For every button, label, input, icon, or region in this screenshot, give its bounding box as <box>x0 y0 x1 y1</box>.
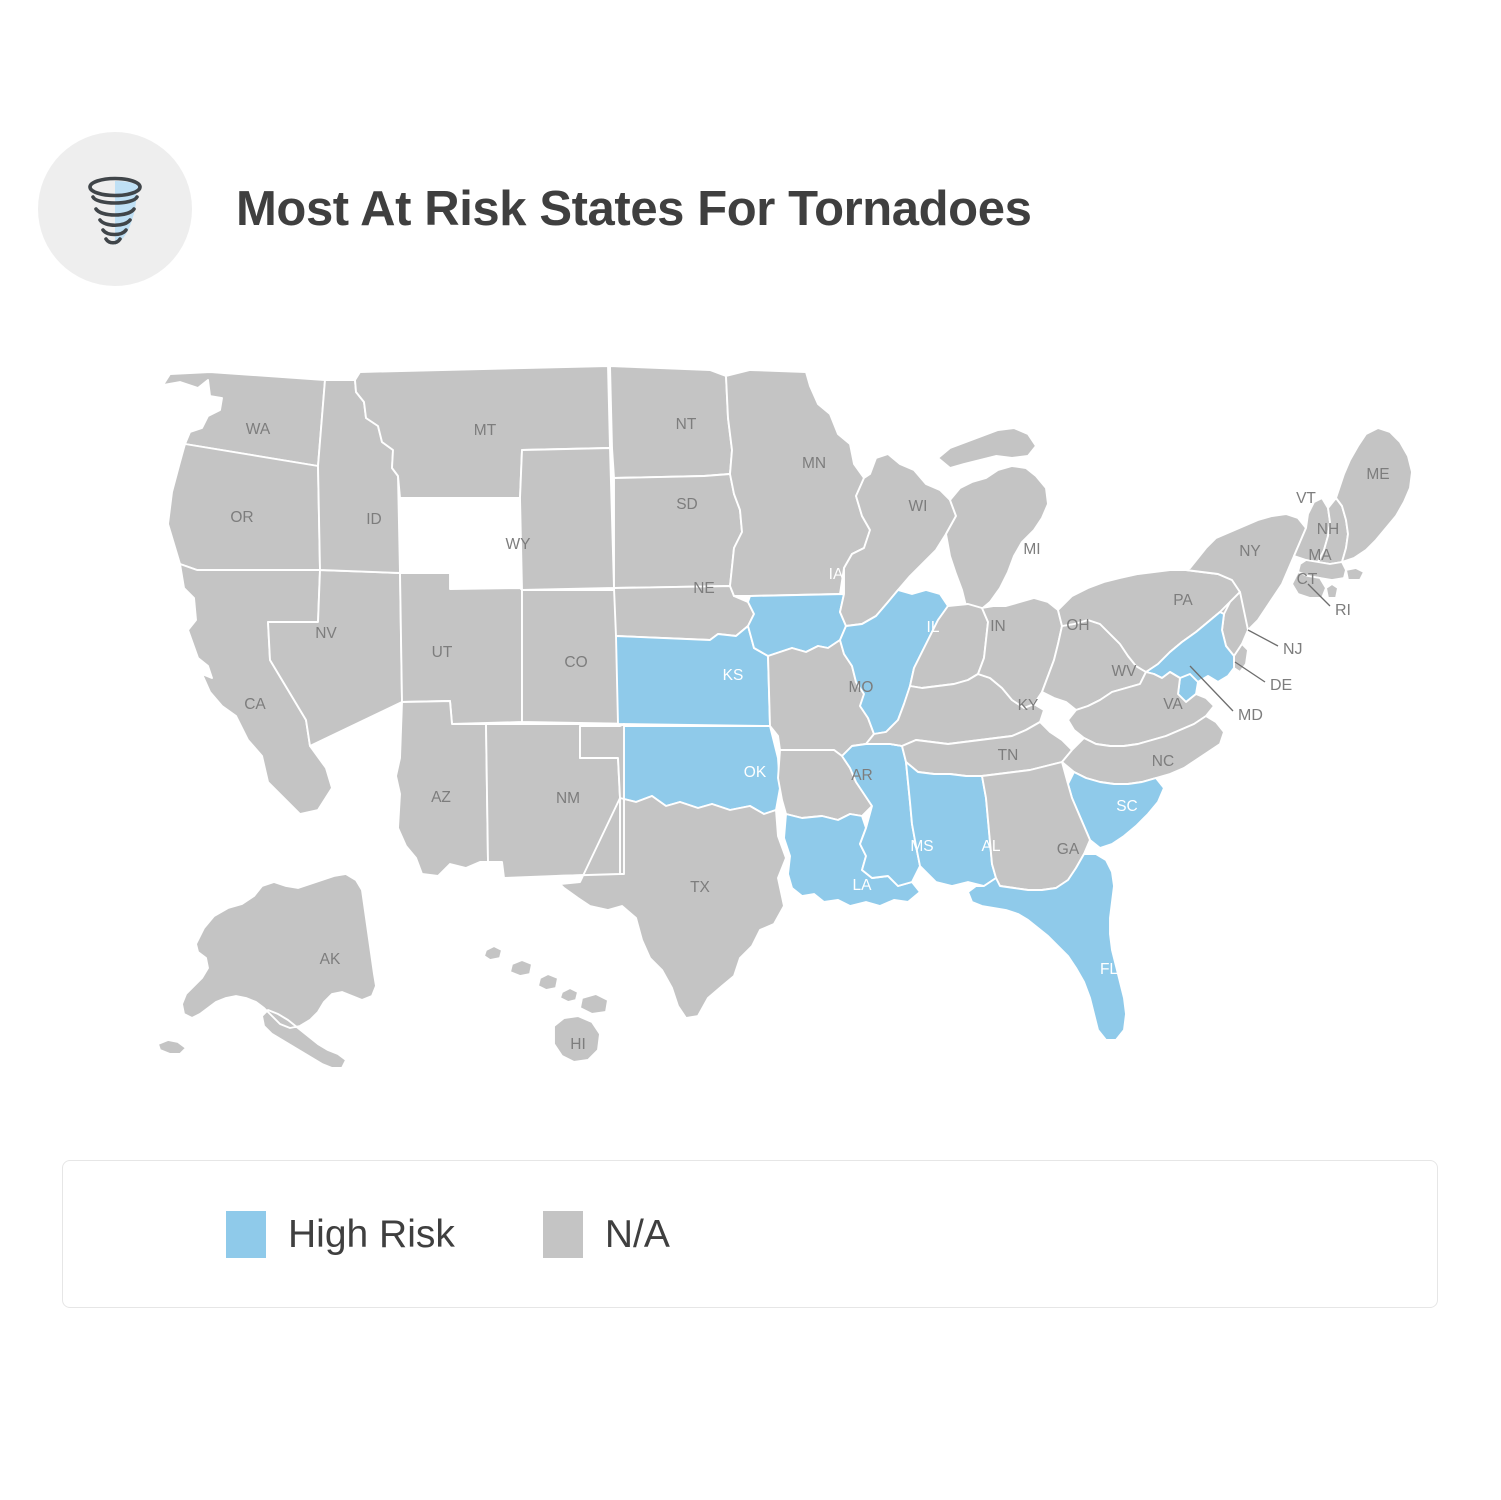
callout-leader-nj <box>1248 630 1278 646</box>
page-header: Most At Risk States For Tornadoes <box>38 132 1031 286</box>
page-title: Most At Risk States For Tornadoes <box>236 185 1031 234</box>
state-me[interactable] <box>1336 428 1412 562</box>
us-choropleth-map: WAORCANVIDMTWYUTAZCONMNTSDNEKSOKTXMNIAMO… <box>150 358 1450 1088</box>
legend-items: High Risk N/A <box>226 1211 670 1258</box>
legend-swatch-na <box>543 1211 583 1258</box>
callout-label-md: MD <box>1238 707 1263 724</box>
legend-swatch-high-risk <box>226 1211 266 1258</box>
map-legend: High Risk N/A <box>62 1160 1438 1308</box>
state-ks[interactable] <box>616 626 770 726</box>
callout-label-ri: RI <box>1335 602 1351 619</box>
tornado-icon-badge <box>38 132 192 286</box>
tornado-icon <box>67 161 163 257</box>
state-wy[interactable] <box>520 448 614 590</box>
state-nt[interactable] <box>610 366 732 478</box>
state-or[interactable] <box>168 444 320 570</box>
state-label-mi: MI <box>1023 541 1040 558</box>
state-hi[interactable] <box>484 946 608 1062</box>
callout-label-de: DE <box>1270 677 1292 694</box>
legend-item-high-risk[interactable]: High Risk <box>226 1211 455 1258</box>
state-az[interactable] <box>396 701 488 876</box>
legend-label-high-risk: High Risk <box>288 1215 455 1254</box>
state-ri[interactable] <box>1326 584 1338 598</box>
legend-label-na: N/A <box>605 1215 670 1254</box>
state-mi[interactable] <box>938 428 1048 612</box>
legend-item-na[interactable]: N/A <box>543 1211 670 1258</box>
state-ak[interactable] <box>158 874 376 1068</box>
callout-label-nj: NJ <box>1283 641 1303 658</box>
states-layer <box>158 366 1412 1068</box>
state-sd[interactable] <box>614 474 742 588</box>
